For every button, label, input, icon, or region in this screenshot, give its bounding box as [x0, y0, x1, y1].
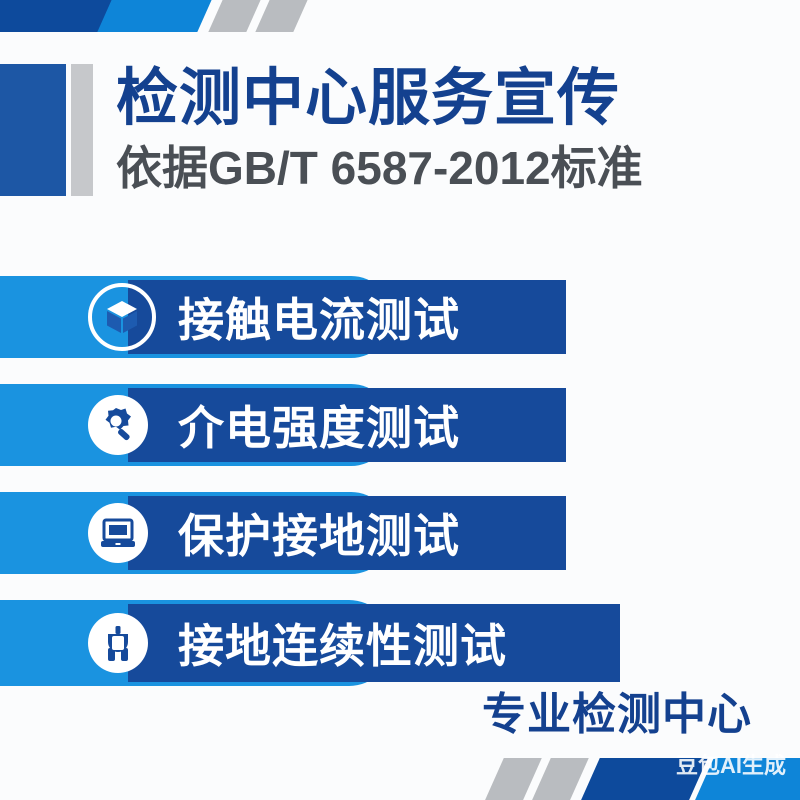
footer-brand-text: 专业检测中心 [482, 678, 752, 742]
top-gray-stripe-1 [205, 0, 263, 32]
page-subtitle: 依据GB/T 6587-2012标准 [116, 140, 776, 196]
top-decorative-band [0, 0, 800, 32]
top-blue-stripe [94, 0, 214, 32]
header-accent-bar [71, 64, 93, 196]
poster-canvas: 检测中心服务宣传 依据GB/T 6587-2012标准 接触电流测试 介电强度测… [0, 0, 800, 800]
plug-probe-icon [88, 613, 148, 673]
feature-banner-contact-current[interactable]: 接触电流测试 [0, 276, 566, 358]
feature-label: 接地连续性测试 [178, 610, 507, 676]
title-group: 检测中心服务宣传 依据GB/T 6587-2012标准 [116, 62, 776, 196]
magnifier-gear-icon [88, 395, 148, 455]
header-accent-block [0, 64, 66, 196]
feature-banner-protective-earth[interactable]: 保护接地测试 [0, 492, 566, 574]
feature-label: 介电强度测试 [178, 392, 460, 458]
feature-label: 接触电流测试 [178, 284, 460, 350]
cube-box-icon [88, 283, 156, 351]
ai-watermark: 豆包AI生成 [676, 748, 786, 780]
feature-banner-earth-continuity[interactable]: 接地连续性测试 [0, 600, 620, 686]
laptop-monitor-icon [88, 503, 148, 563]
top-gray-stripe-2 [252, 0, 310, 32]
page-title: 检测中心服务宣传 [116, 62, 776, 136]
feature-label: 保护接地测试 [178, 500, 460, 566]
feature-banner-dielectric-strength[interactable]: 介电强度测试 [0, 384, 566, 466]
